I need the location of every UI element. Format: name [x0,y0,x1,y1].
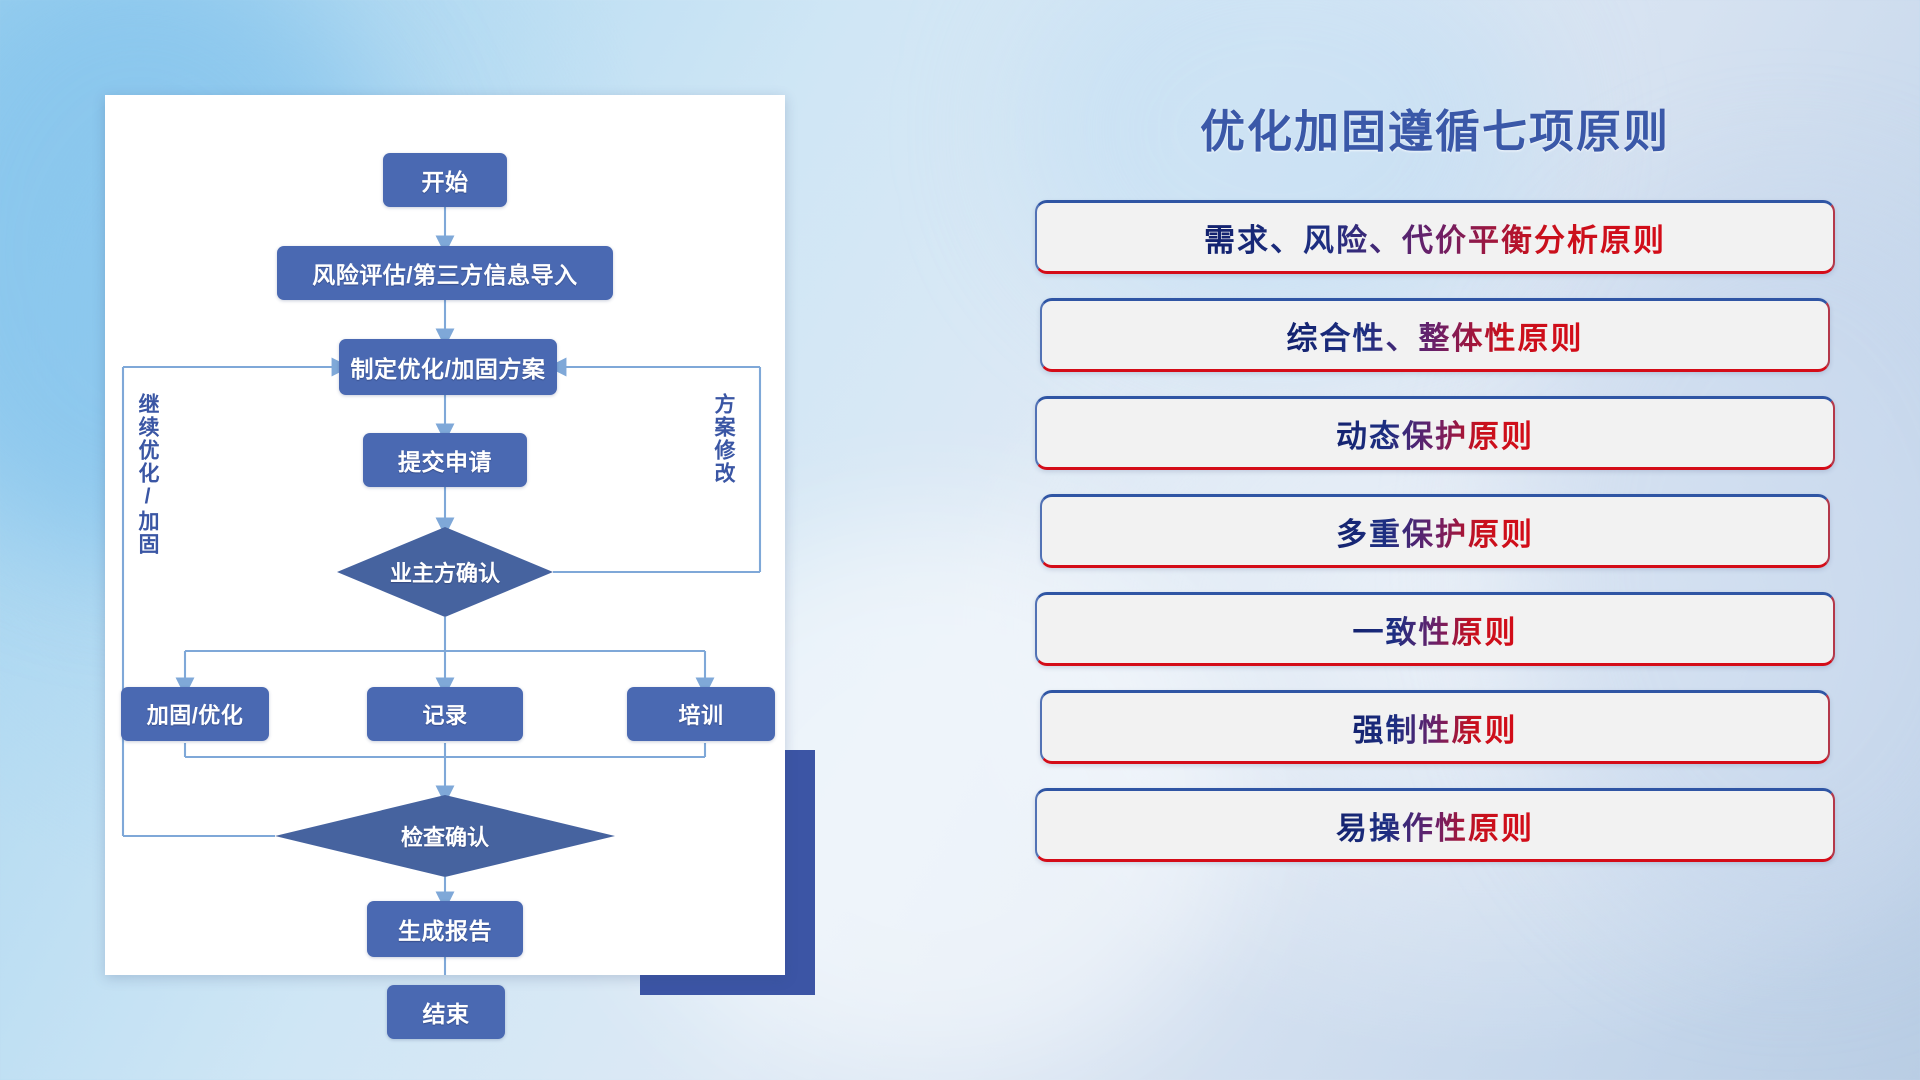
flow-decision-check-confirm[interactable]: 检查确认 [275,795,615,877]
principle-card-4[interactable]: 多重保护原则 [1040,494,1830,568]
principle-card-4-label: 多重保护原则 [1336,509,1534,554]
principle-card-2[interactable]: 综合性、整体性原则 [1040,298,1830,372]
flow-decision-owner-confirm-label: 业主方确认 [390,556,500,588]
flow-node-risk-assessment[interactable]: 风险评估/第三方信息导入 [277,246,613,300]
flow-node-generate-report[interactable]: 生成报告 [367,901,523,957]
principles-title: 优化加固遵循七项原则 [1020,95,1850,160]
principle-card-1-label: 需求、风险、代价平衡分析原则 [1204,215,1666,260]
principle-card-3-label: 动态保护原则 [1336,411,1534,456]
flow-node-make-plan[interactable]: 制定优化/加固方案 [339,339,557,395]
flow-node-make-plan-label: 制定优化/加固方案 [351,350,546,384]
flow-node-start[interactable]: 开始 [383,153,507,207]
flow-node-training[interactable]: 培训 [627,687,775,741]
principle-card-5[interactable]: 一致性原则 [1035,592,1835,666]
principle-card-1[interactable]: 需求、风险、代价平衡分析原则 [1035,200,1835,274]
flow-node-record-label: 记录 [422,698,467,730]
principle-card-6[interactable]: 强制性原则 [1040,690,1830,764]
flow-edge-label-left-loop: 继续优化/加固 [137,393,158,556]
principles-pane: 优化加固遵循七项原则 需求、风险、代价平衡分析原则 综合性、整体性原则 动态保护… [1020,95,1850,886]
flow-node-training-label: 培训 [678,698,723,730]
principle-card-7[interactable]: 易操作性原则 [1035,788,1835,862]
principle-card-7-label: 易操作性原则 [1336,803,1534,848]
flow-node-risk-assessment-label: 风险评估/第三方信息导入 [312,256,577,290]
flow-node-submit-application-label: 提交申请 [398,443,492,477]
principle-card-5-label: 一致性原则 [1353,607,1518,652]
flowchart: 开始 风险评估/第三方信息导入 制定优化/加固方案 提交申请 业主方确认 加固/… [105,95,785,975]
flow-node-end[interactable]: 结束 [387,985,505,1039]
flow-node-reinforce-optimize-label: 加固/优化 [147,698,244,730]
flow-node-record[interactable]: 记录 [367,687,523,741]
flow-decision-check-confirm-label: 检查确认 [401,820,489,852]
principle-card-3[interactable]: 动态保护原则 [1035,396,1835,470]
flow-node-end-label: 结束 [423,995,470,1029]
flow-node-generate-report-label: 生成报告 [398,912,492,946]
flow-node-start-label: 开始 [422,163,469,197]
principle-card-2-label: 综合性、整体性原则 [1287,313,1584,358]
principle-card-6-label: 强制性原则 [1353,705,1518,750]
flow-node-reinforce-optimize[interactable]: 加固/优化 [121,687,269,741]
flow-node-submit-application[interactable]: 提交申请 [363,433,527,487]
flow-edge-label-right-loop: 方案修改 [713,393,734,485]
flow-decision-owner-confirm[interactable]: 业主方确认 [337,527,553,617]
flowchart-panel: 开始 风险评估/第三方信息导入 制定优化/加固方案 提交申请 业主方确认 加固/… [105,95,785,975]
